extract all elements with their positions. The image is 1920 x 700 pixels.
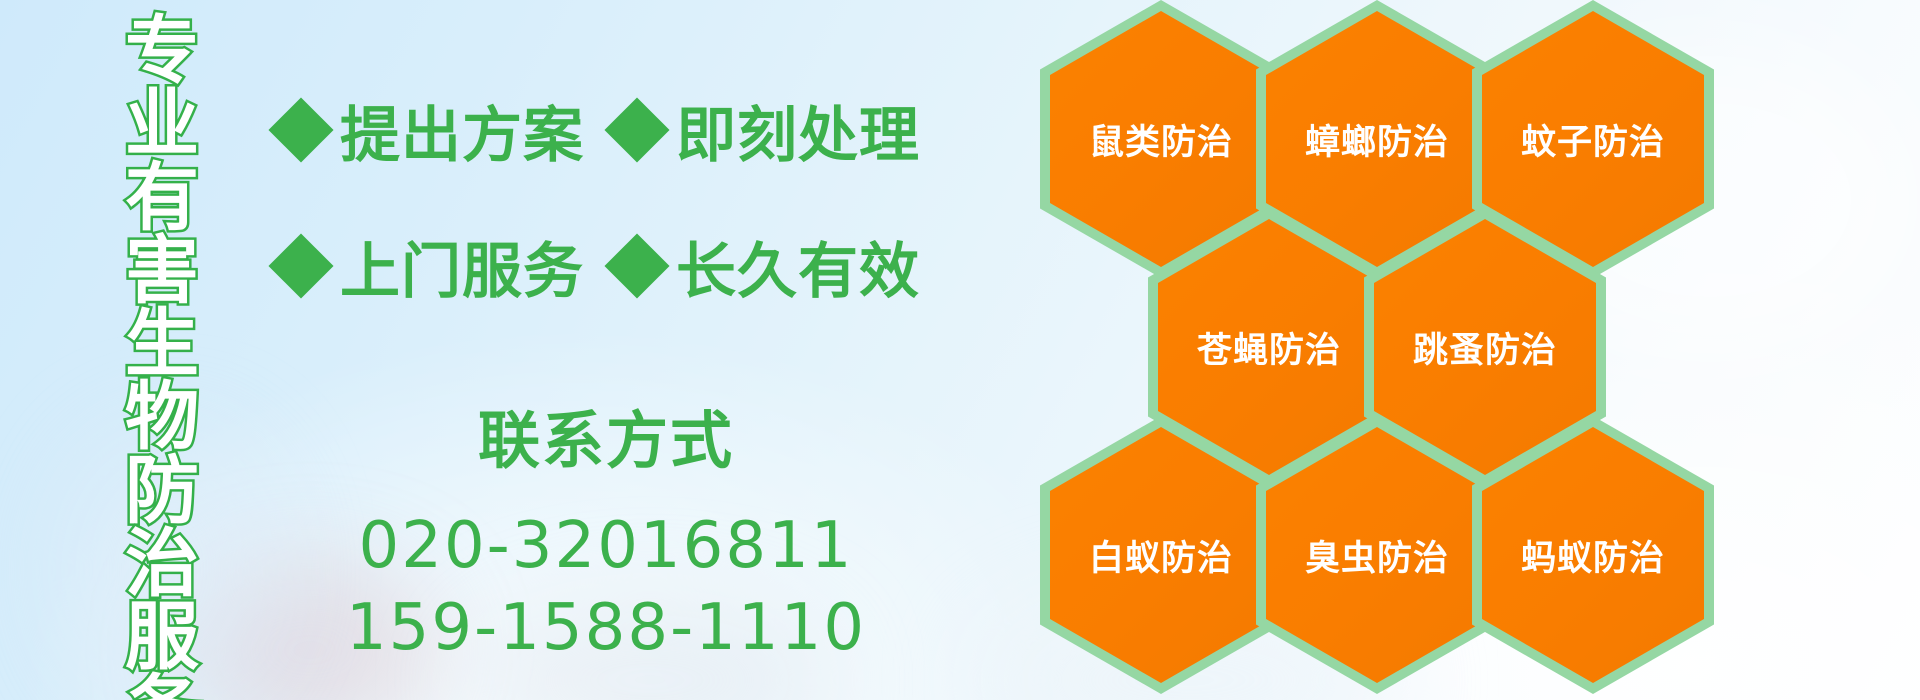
contact-title: 联系方式 [286, 390, 926, 480]
vertical-headline-char: 害 [125, 234, 199, 307]
diamond-icon [268, 233, 333, 298]
vertical-headline-char: 治 [125, 527, 199, 600]
service-label: 蚊子防治 [1521, 114, 1665, 165]
vertical-headline-char: 业 [125, 87, 199, 160]
feature-row: 提出方案 即刻处理 [278, 76, 898, 184]
feature-label: 长久有效 [676, 223, 920, 310]
pest-control-banner: 专 业 有 害 生 物 防 治 服 务 提出方案 即刻处理 上门服务 [0, 0, 1920, 700]
feature-item-immediate-action: 即刻处理 [614, 87, 920, 174]
feature-label: 上门服务 [340, 223, 584, 310]
feature-item-long-lasting: 长久有效 [614, 223, 920, 310]
vertical-headline-char: 务 [125, 673, 199, 700]
hex-inner: 白蚁防治 [1050, 427, 1272, 683]
vertical-headline-char: 生 [125, 307, 199, 380]
vertical-headline-char: 专 [125, 14, 199, 87]
service-label: 臭虫防治 [1305, 530, 1449, 581]
vertical-headline-char: 防 [125, 454, 199, 527]
vertical-headline: 专 业 有 害 生 物 防 治 服 务 [108, 14, 216, 684]
vertical-headline-char: 有 [125, 161, 199, 234]
feature-list: 提出方案 即刻处理 上门服务 长久有效 [278, 76, 898, 320]
feature-item-propose-plan: 提出方案 [278, 87, 584, 174]
vertical-headline-char: 服 [125, 600, 199, 673]
diamond-icon [604, 97, 669, 162]
feature-label: 提出方案 [340, 87, 584, 174]
service-label: 蚂蚁防治 [1521, 530, 1665, 581]
diamond-icon [268, 97, 333, 162]
contact-phone-landline[interactable]: 020-32016811 [286, 506, 926, 588]
service-label: 白蚁防治 [1089, 530, 1233, 581]
service-label: 鼠类防治 [1089, 114, 1233, 165]
diamond-icon [604, 233, 669, 298]
hex-inner: 蚂蚁防治 [1482, 427, 1704, 683]
contact-phone-mobile[interactable]: 159-1588-1110 [286, 588, 926, 670]
service-label: 苍蝇防治 [1197, 322, 1341, 373]
contact-block: 联系方式 020-32016811 159-1588-1110 [286, 390, 926, 670]
feature-label: 即刻处理 [676, 87, 920, 174]
service-label: 蟑螂防治 [1305, 114, 1449, 165]
hex-inner: 臭虫防治 [1266, 427, 1488, 683]
vertical-headline-char: 物 [125, 380, 199, 453]
feature-item-onsite-service: 上门服务 [278, 223, 584, 310]
feature-row: 上门服务 长久有效 [278, 212, 898, 320]
service-label: 跳蚤防治 [1413, 322, 1557, 373]
service-honeycomb: 鼠类防治 蟑螂防治 蚊子防治 苍蝇防治 跳蚤防治 白蚁防治 [1040, 0, 1870, 700]
